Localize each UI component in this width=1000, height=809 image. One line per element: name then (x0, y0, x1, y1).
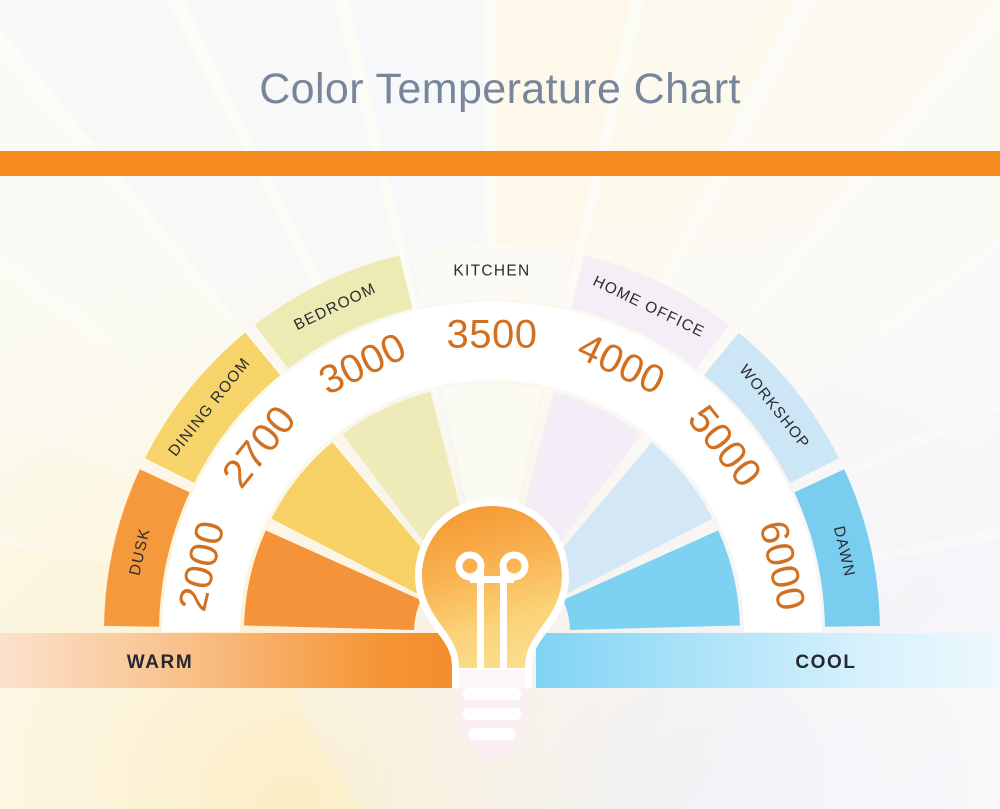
color-temperature-chart: Color Temperature Chart WARM COOL DUSK20… (0, 0, 1000, 809)
page-title: Color Temperature Chart (259, 65, 741, 113)
cool-scale-bar (536, 633, 1000, 688)
infographic-canvas: Color Temperature Chart WARM COOL DUSK20… (0, 0, 1000, 809)
room-label-kitchen: KITCHEN (453, 263, 530, 280)
bulb-collar (459, 670, 525, 688)
bulb-thread-2 (463, 708, 521, 720)
kelvin-label-kitchen: 3500 (447, 313, 538, 357)
lightbulb-base-upper (452, 668, 532, 688)
cool-scale-label: COOL (795, 652, 856, 673)
filament-bridge (470, 576, 514, 583)
warm-scale-bar (0, 633, 492, 688)
filament-stem-right (500, 570, 507, 670)
warm-scale-label: WARM (127, 652, 194, 673)
bulb-thread-1 (463, 688, 521, 700)
bulb-thread-3 (468, 728, 516, 740)
title-rule (0, 151, 1000, 176)
filament-stem-left (477, 570, 484, 670)
